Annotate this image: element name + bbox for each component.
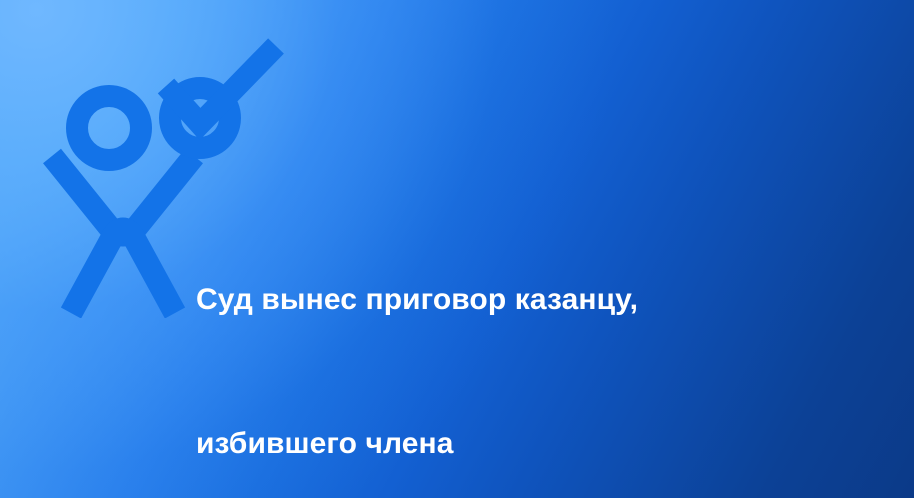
- news-card: Суд вынес приговор казанцу, избившего чл…: [0, 0, 914, 498]
- headline-line-1: Суд вынес приговор казанцу,: [196, 276, 756, 324]
- page-title: Суд вынес приговор казанцу, избившего чл…: [196, 180, 756, 498]
- logo-legs-chevron: [71, 229, 175, 313]
- headline-line-2: избившего члена: [196, 420, 756, 468]
- logo-ring-circle-left: [77, 96, 141, 160]
